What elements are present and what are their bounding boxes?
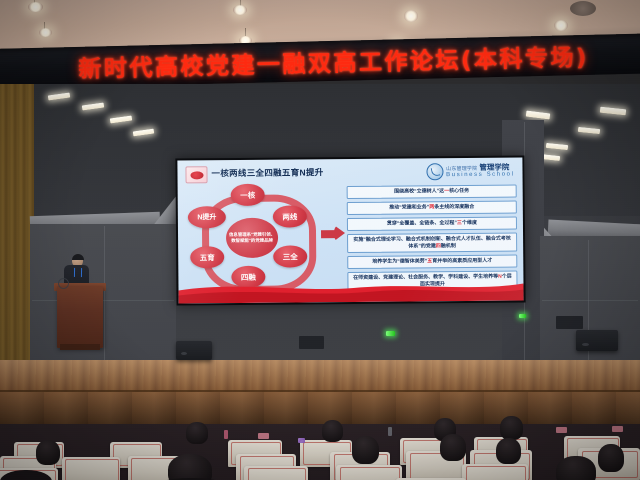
slide-text-box: 实施“融合式理论学习、融合式机制创新、融合式人才队伍、融合式考核体系”的党建四融…: [347, 232, 517, 253]
stage-monitor-right: [576, 330, 618, 351]
seat-card: [612, 426, 623, 432]
water-bottle: [388, 427, 392, 436]
hexagon-ring-diagram: 一核 两线 三全 四融 五育 N提升 信息管理系"党建引领、数智赋能"的党建品牌: [185, 185, 320, 288]
conference-hall-photo: 新时代高校党建一融双高工作论坛(本科专场) 一核两线三全四融五育N提升: [0, 0, 640, 480]
ceiling-spotlight: [28, 2, 43, 12]
audience-head: [500, 416, 523, 440]
ceiling-spotlight: [233, 5, 247, 15]
presentation-slide: 一核两线三全四融五育N提升 山东管理学院 管理学院 Business Schoo…: [177, 157, 523, 303]
stage-equipment-box: [556, 316, 583, 329]
water-bottle: [224, 430, 228, 439]
audience-head: [556, 456, 596, 480]
ceiling-spotlight: [404, 10, 418, 22]
audience-chair: [336, 465, 402, 480]
stage-wall-panel-left: [30, 224, 176, 366]
phone-screen: [298, 438, 305, 443]
stage-monitor-left: [176, 341, 212, 360]
slide-text-box: 贯穿“全覆盖、全链条、全过程”三个维度: [347, 216, 517, 231]
projection-screen: 一核两线三全四融五育N提升 山东管理学院 管理学院 Business Schoo…: [175, 155, 525, 305]
audience-chair: [62, 457, 120, 480]
exit-indicator-light: [519, 314, 526, 318]
audience-head: [496, 438, 521, 464]
exit-indicator-light: [386, 331, 395, 336]
seat-card: [556, 427, 567, 433]
audience-head: [352, 436, 379, 464]
right-arrow-icon: [321, 225, 345, 242]
wood-wall-panel-left: [0, 84, 34, 366]
audience-head: [168, 454, 212, 480]
slide-text-box: 推动“党建和业务”两条主线的深度融合: [347, 200, 517, 215]
business-school-emblem-icon: [426, 163, 443, 180]
slide-header: 一核两线三全四融五育N提升 山东管理学院 管理学院 Business Schoo…: [185, 163, 516, 186]
presenter-lanyard: [74, 268, 82, 277]
ceiling-spotlight: [39, 28, 52, 37]
college-name-cn: 管理学院: [479, 163, 509, 172]
audience-head: [598, 444, 624, 472]
school-name-en: Business School: [446, 172, 514, 179]
audience-head: [322, 420, 343, 442]
party-building-emblem-icon: [185, 166, 207, 183]
led-banner-text: 新时代高校党建一融双高工作论坛(本科专场): [78, 38, 589, 84]
lectern-base: [60, 344, 100, 350]
microphone-icon: [58, 278, 69, 289]
audience-chair: [462, 464, 528, 480]
slide-wave-graphic: [178, 274, 523, 303]
stage-equipment-box: [299, 336, 324, 349]
ceiling-vent: [570, 1, 596, 16]
ceiling-spotlight: [554, 20, 568, 31]
slide-text-box: 围绕高校“立德树人”这一核心任务: [347, 185, 517, 200]
school-logo: 山东管理学院 管理学院 Business School: [426, 163, 515, 181]
slide-text-box: 培养学生为“德智体美劳”五育并举的高素质应用型人才: [347, 255, 517, 270]
presenter-hair: [72, 254, 84, 260]
university-name-cn: 山东管理学院: [446, 166, 477, 172]
audience-chair: [244, 466, 308, 480]
audience-head: [440, 434, 466, 461]
lectern: [57, 286, 103, 348]
audience-area: [0, 424, 640, 480]
slide-title: 一核两线三全四融五育N提升: [211, 166, 323, 179]
seat-card: [258, 433, 269, 439]
audience-head: [36, 440, 60, 465]
audience-head: [186, 422, 208, 444]
